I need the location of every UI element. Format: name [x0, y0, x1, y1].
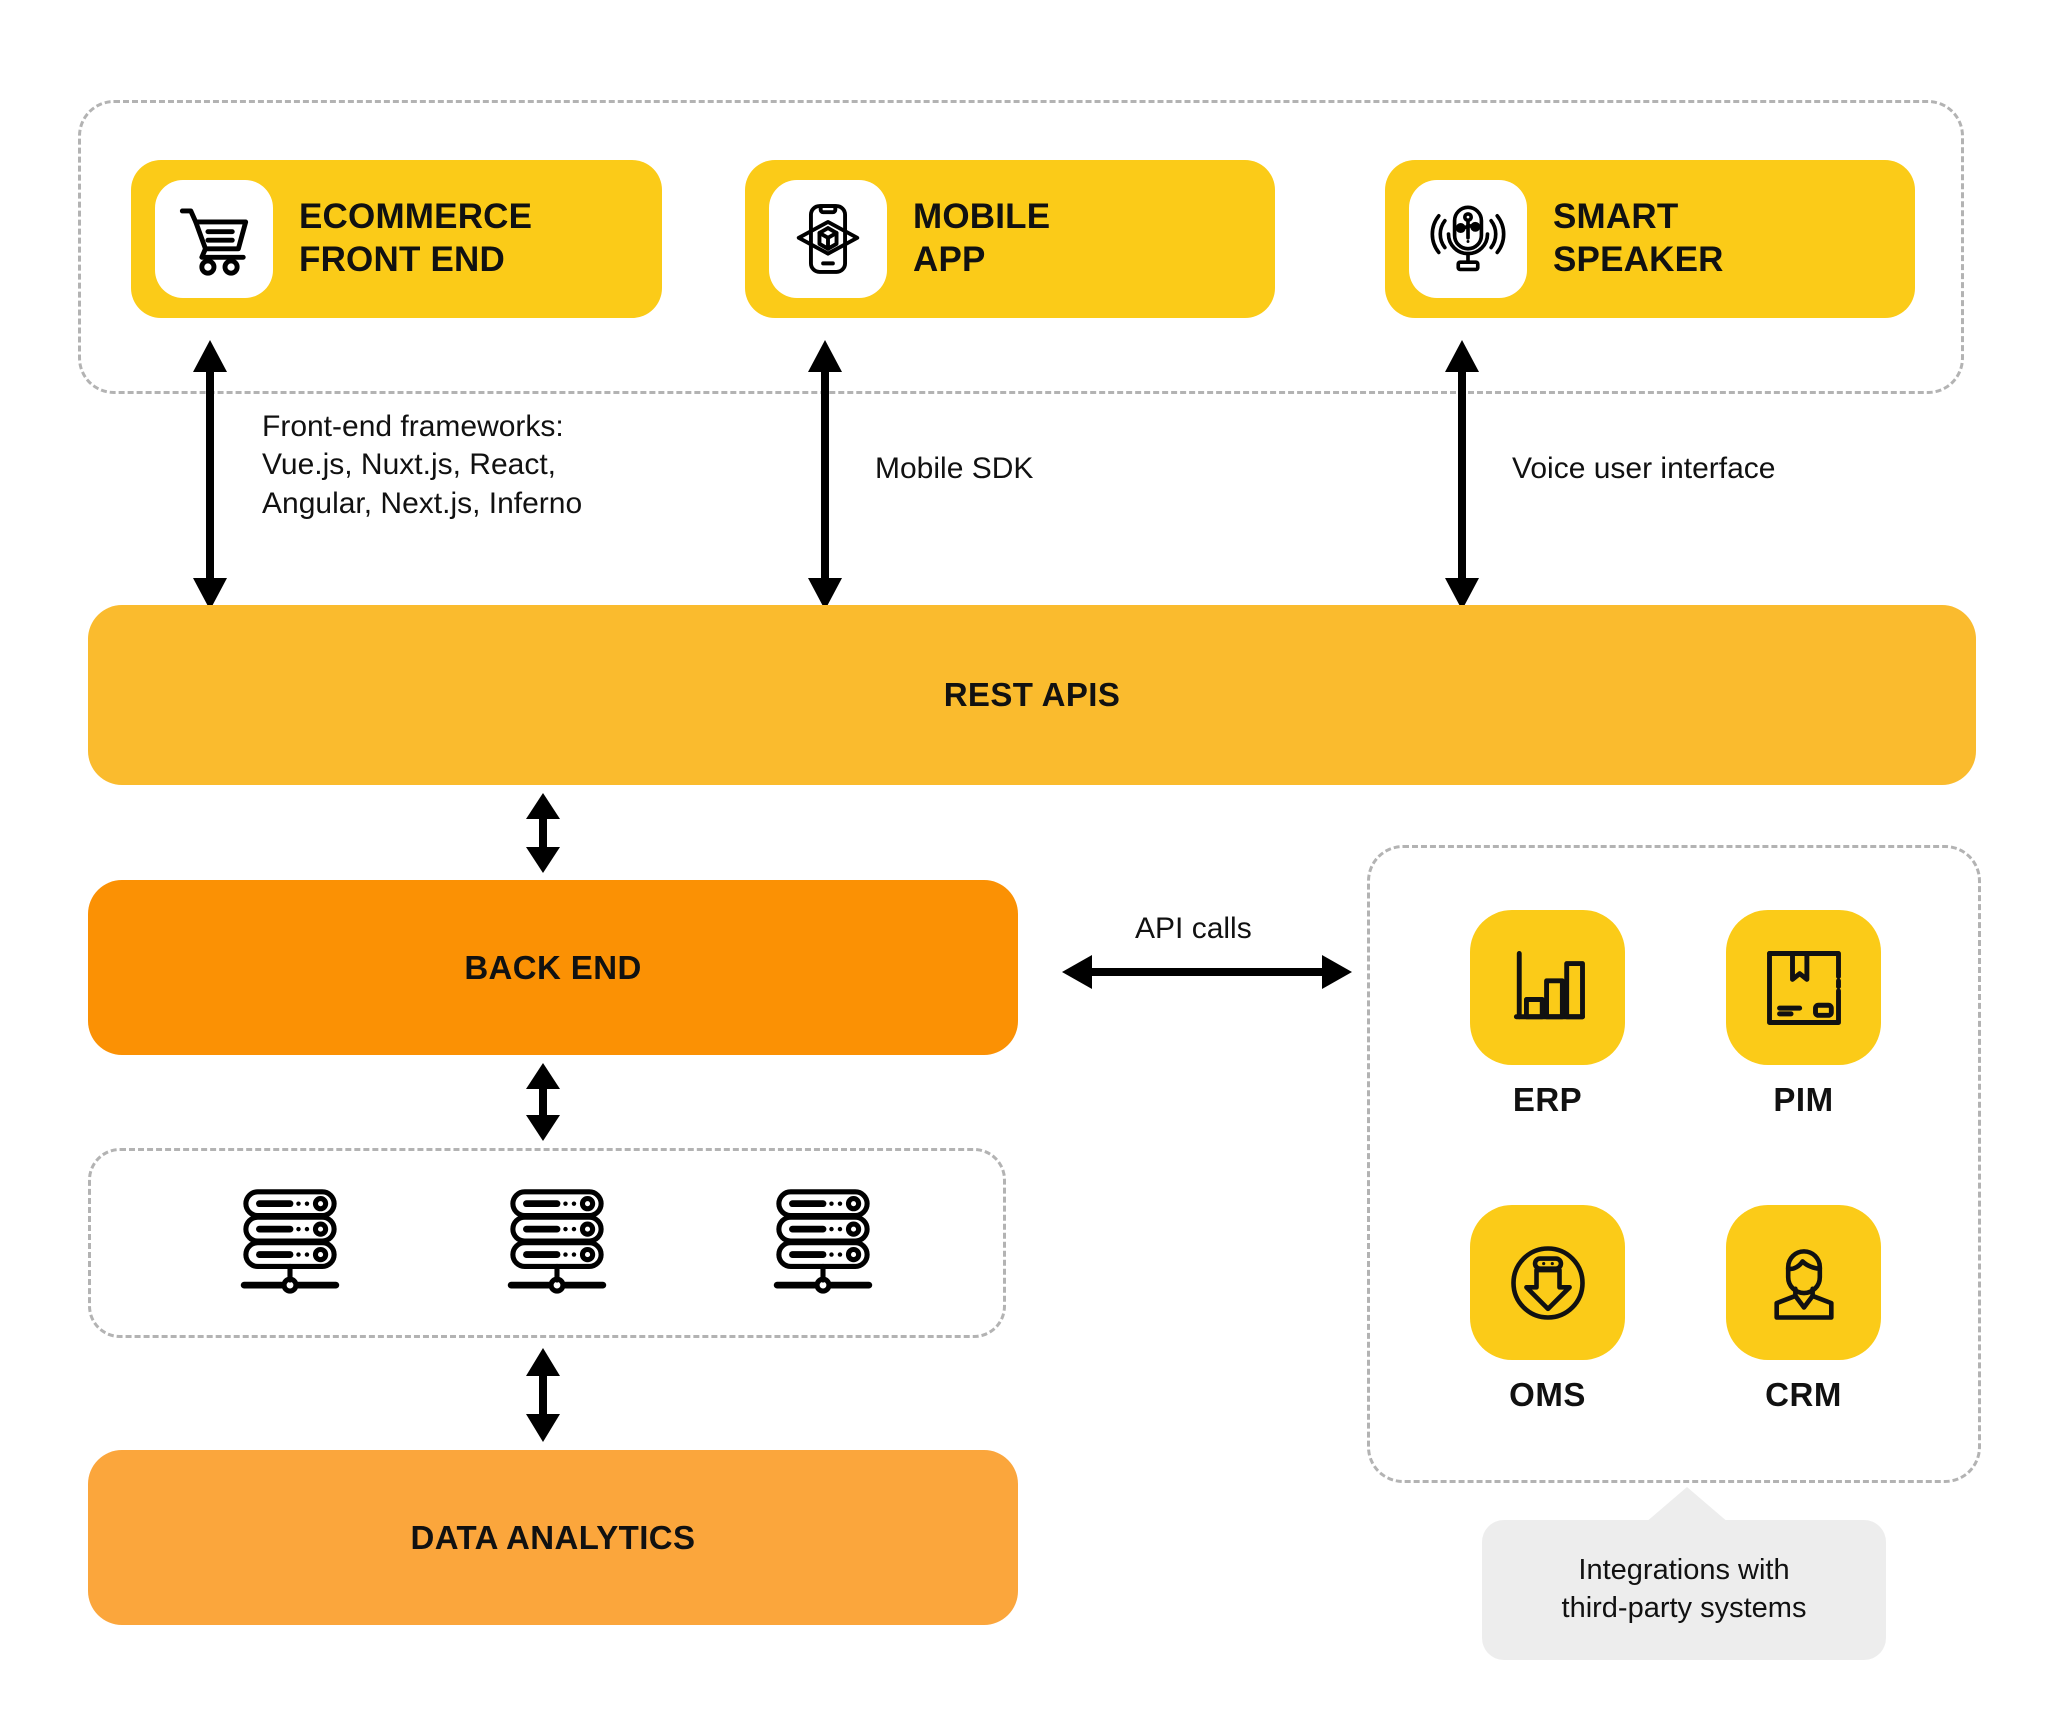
edge-label-voice-user-interface: Voice user interface — [1512, 450, 1775, 488]
server-stack-icon — [768, 1185, 878, 1297]
integration-erp[interactable]: ERP — [1470, 910, 1625, 1119]
channel-card-label: ECOMMERCE FRONT END — [299, 196, 532, 281]
channel-card-smart-speaker[interactable]: SMART SPEAKER — [1385, 160, 1915, 318]
architecture-diagram: ECOMMERCE FRONT END MOBILE APP — [0, 0, 2048, 1711]
layer-label: REST APIS — [944, 676, 1121, 714]
server-stack-icon — [235, 1185, 345, 1297]
arrow-backend-to-databases — [513, 1063, 573, 1141]
channel-card-label: SMART SPEAKER — [1553, 196, 1724, 281]
callout-pointer — [1645, 1487, 1729, 1523]
arrow-speaker-to-rest — [1432, 340, 1492, 610]
integration-label: ERP — [1513, 1081, 1582, 1119]
layer-back-end[interactable]: BACK END — [88, 880, 1018, 1055]
arrow-backend-to-integrations — [1062, 942, 1352, 1002]
channel-card-mobile-app[interactable]: MOBILE APP — [745, 160, 1275, 318]
integrations-group-container — [1367, 845, 1981, 1483]
layer-label: BACK END — [464, 949, 641, 987]
mobile-ar-icon — [769, 180, 887, 298]
layer-rest-apis[interactable]: REST APIS — [88, 605, 1976, 785]
arrow-databases-to-analytics — [513, 1348, 573, 1442]
server-stack-icon — [502, 1185, 612, 1297]
channel-card-ecommerce-front-end[interactable]: ECOMMERCE FRONT END — [131, 160, 662, 318]
shopping-cart-icon — [155, 180, 273, 298]
callout-third-party-integrations: Integrations with third-party systems — [1482, 1520, 1886, 1660]
edge-label-api-calls: API calls — [1135, 910, 1252, 948]
edge-label-mobile-sdk: Mobile SDK — [875, 450, 1033, 488]
package-box-icon — [1726, 910, 1881, 1065]
bar-chart-icon — [1470, 910, 1625, 1065]
integration-oms[interactable]: OMS — [1470, 1205, 1625, 1414]
integration-label: CRM — [1765, 1376, 1842, 1414]
layer-data-analytics[interactable]: DATA ANALYTICS — [88, 1450, 1018, 1625]
smart-speaker-microphone-icon — [1409, 180, 1527, 298]
order-download-icon — [1470, 1205, 1625, 1360]
layer-label: DATA ANALYTICS — [411, 1519, 696, 1557]
arrow-ecommerce-to-rest — [180, 340, 240, 610]
person-avatar-icon — [1726, 1205, 1881, 1360]
integration-pim[interactable]: PIM — [1726, 910, 1881, 1119]
integration-label: OMS — [1509, 1376, 1586, 1414]
integration-crm[interactable]: CRM — [1726, 1205, 1881, 1414]
channel-card-label: MOBILE APP — [913, 196, 1050, 281]
arrow-rest-to-backend — [513, 793, 573, 873]
edge-label-frontend-frameworks: Front-end frameworks: Vue.js, Nuxt.js, R… — [262, 408, 582, 523]
integration-label: PIM — [1773, 1081, 1833, 1119]
arrow-mobile-to-rest — [795, 340, 855, 610]
